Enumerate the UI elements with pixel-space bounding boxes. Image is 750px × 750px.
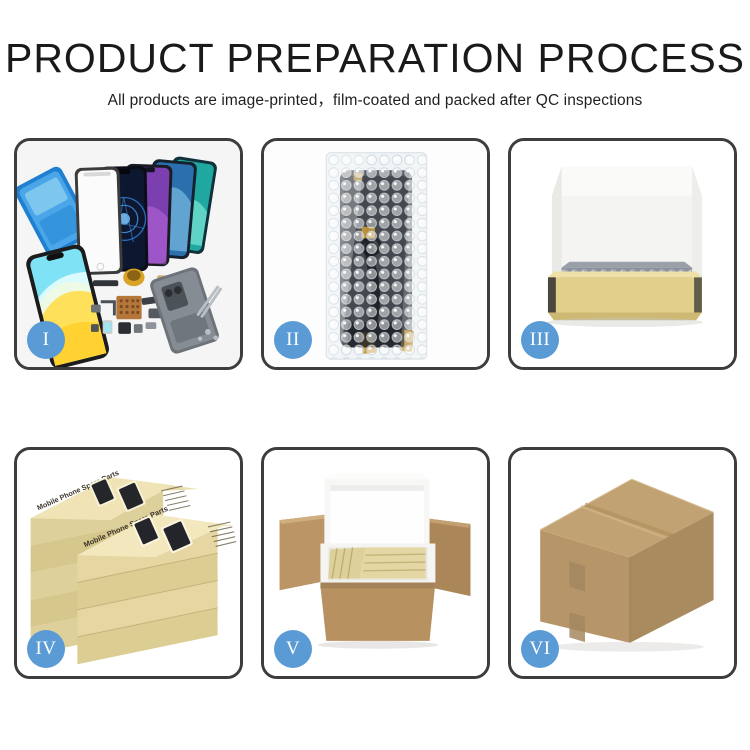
step-badge-3: III <box>521 321 559 359</box>
panel-stacked-inner-boxes: Mobile Phone Spare Parts <box>14 447 243 679</box>
step-badge-5: V <box>274 630 312 668</box>
page-title: PRODUCT PREPARATION PROCESS <box>0 0 750 79</box>
panel-open-inner-box: III <box>508 138 737 370</box>
header: PRODUCT PREPARATION PROCESS All products… <box>0 0 750 109</box>
step-badge-1: I <box>27 321 65 359</box>
product-preparation-infographic: PRODUCT PREPARATION PROCESS All products… <box>0 0 750 750</box>
page-subtitle: All products are image-printed，film-coat… <box>0 79 750 109</box>
panel-sealed-carton: VI <box>508 447 737 679</box>
panel-parts-overview: I <box>14 138 243 370</box>
step-badge-6: VI <box>521 630 559 668</box>
step-badge-2: II <box>274 321 312 359</box>
process-step-grid: I <box>14 138 736 679</box>
step-badge-4: IV <box>27 630 65 668</box>
panel-bubble-wrapped-screen: II <box>261 138 490 370</box>
panel-foam-lined-carton: V <box>261 447 490 679</box>
